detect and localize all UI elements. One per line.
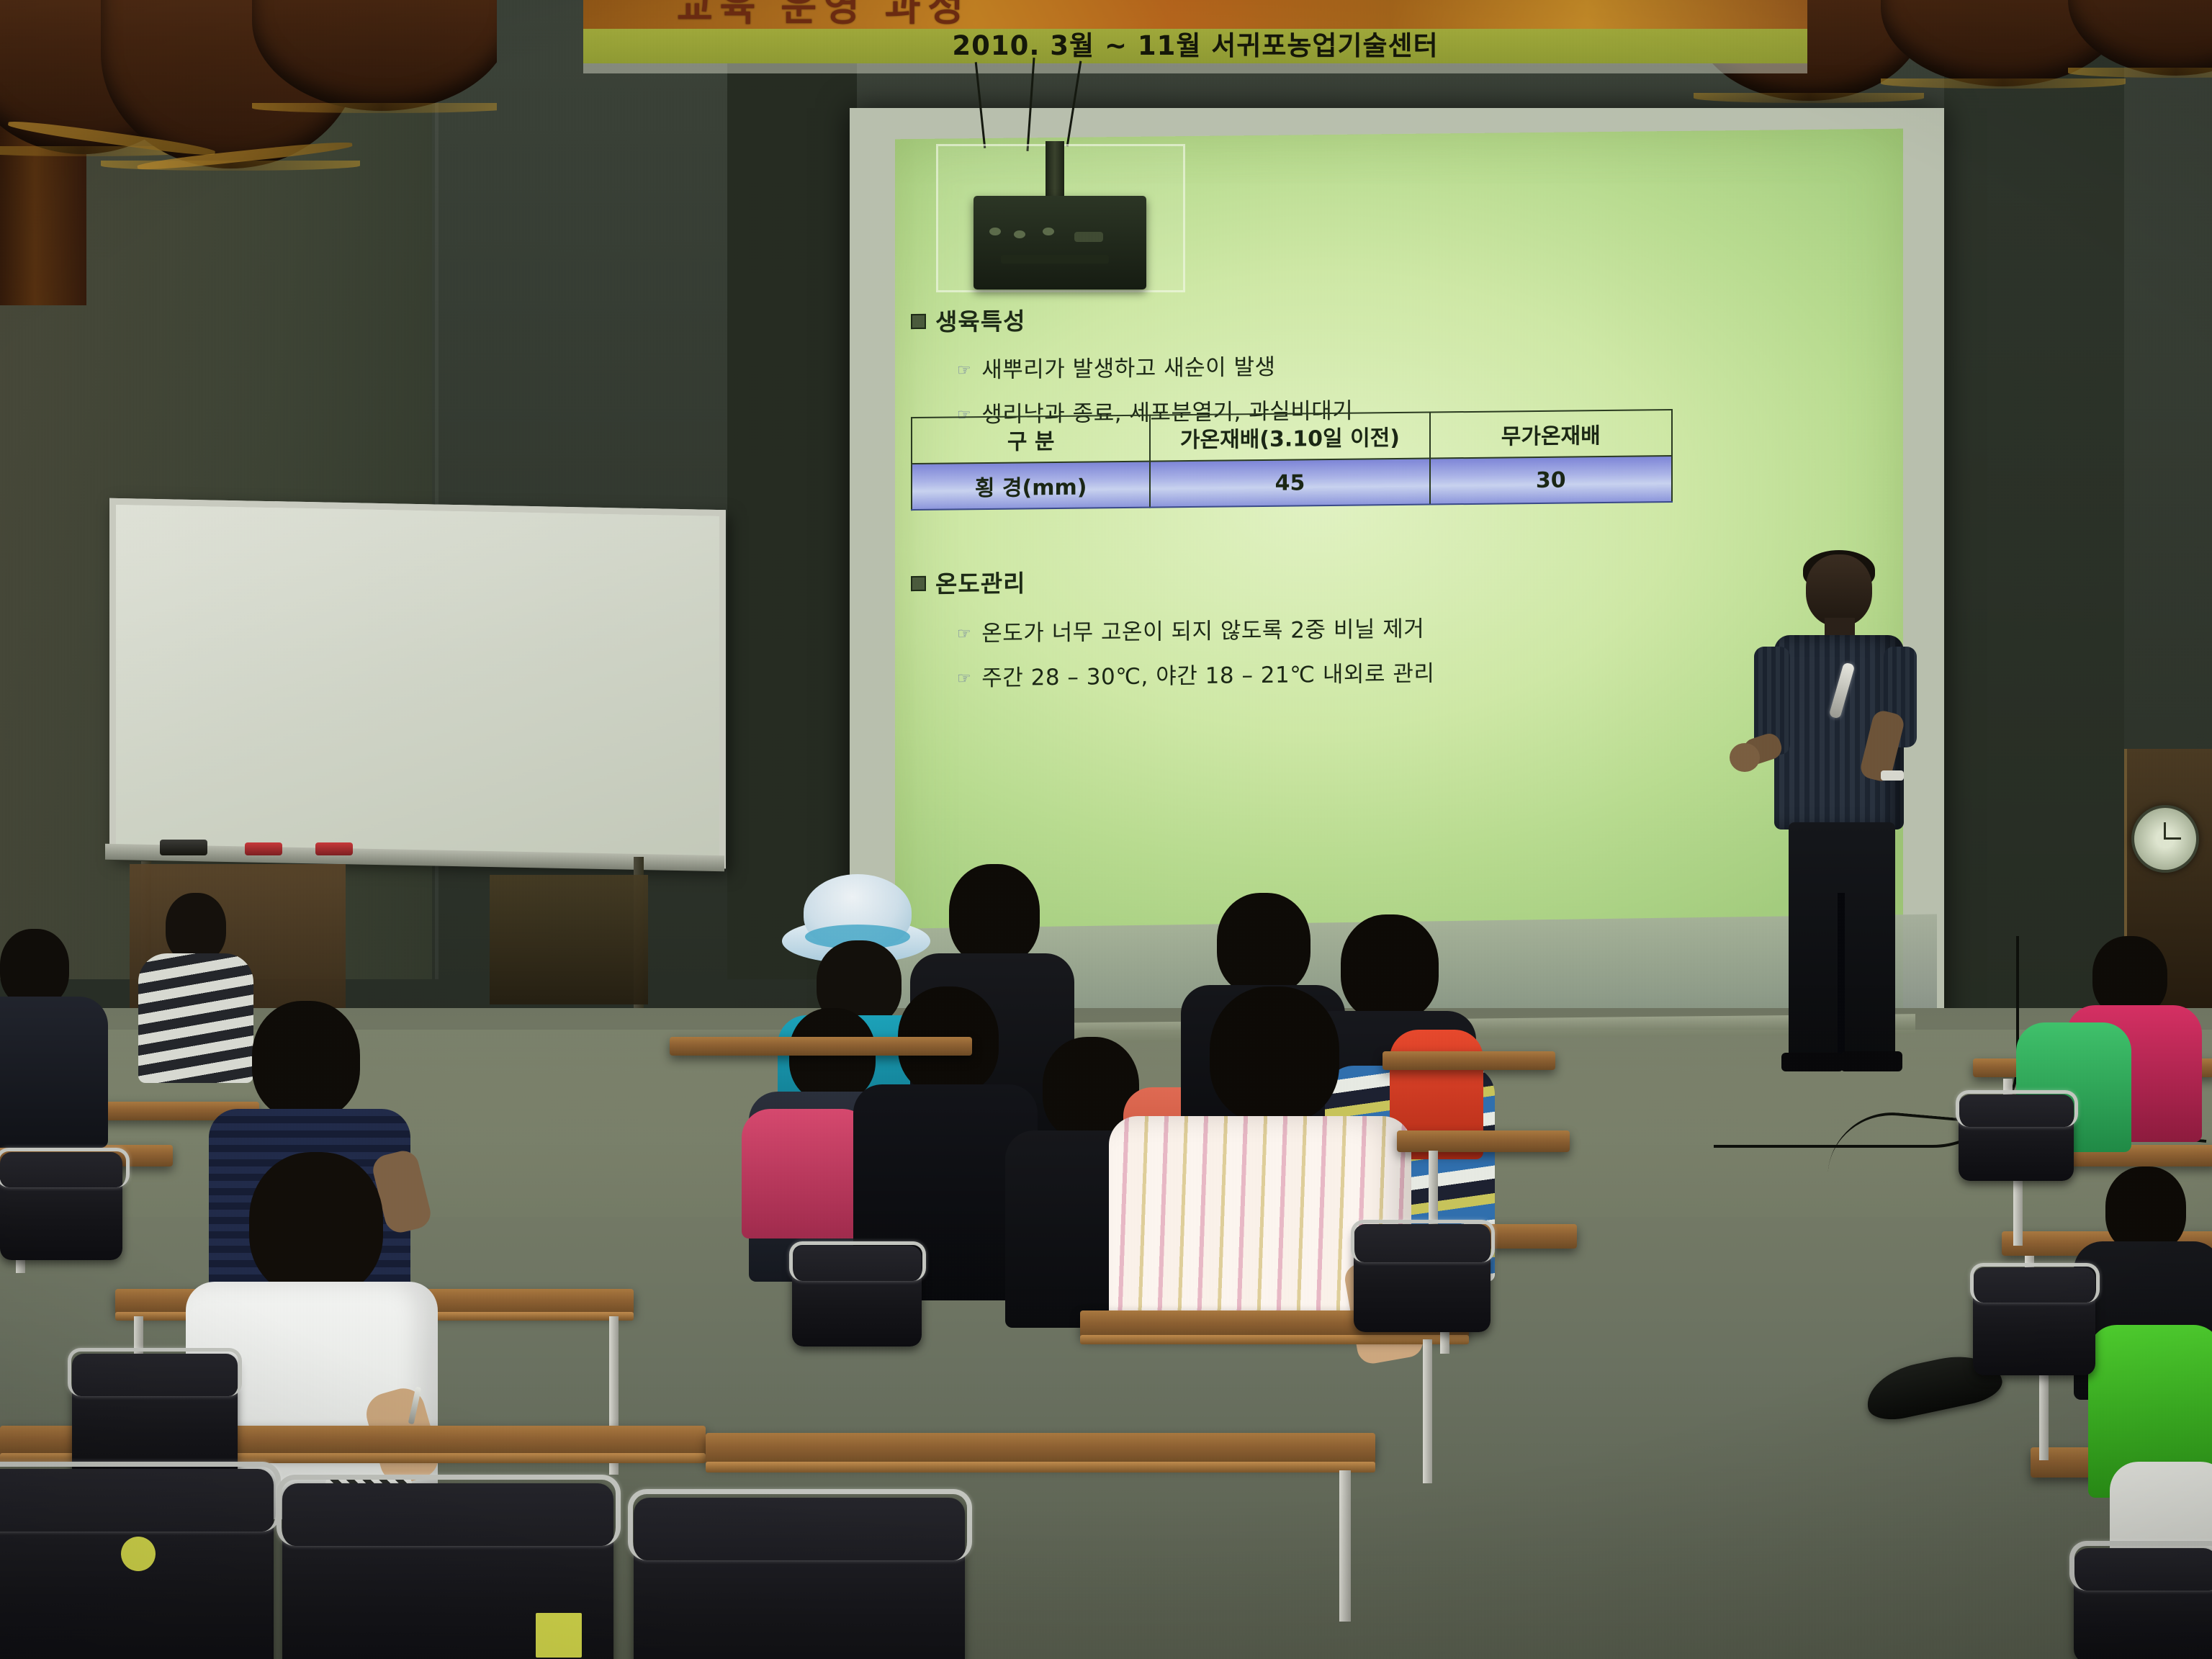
chair-frame bbox=[789, 1241, 926, 1281]
table-cell: 횡 경(mm) bbox=[912, 462, 1150, 510]
chair-frame bbox=[628, 1489, 972, 1560]
desk-edge bbox=[1080, 1335, 1469, 1344]
slide-bullet: ☞새뿌리가 발생하고 새순이 발생 bbox=[957, 349, 1276, 385]
projector-lens-icon bbox=[989, 228, 1001, 235]
red-marker bbox=[315, 842, 353, 855]
red-marker bbox=[245, 842, 282, 855]
attendee-body bbox=[742, 1109, 871, 1238]
banner-subtitle-strip: 2010. 3월 ~ 11월 서귀포농업기술센터 bbox=[583, 29, 1807, 63]
slide-bullet: ☞주간 28 – 30℃, 야간 18 – 21℃ 내외로 관리 bbox=[957, 655, 1434, 692]
wall-column bbox=[727, 43, 857, 979]
storage-cabinet bbox=[490, 875, 648, 1004]
square-bullet-icon bbox=[911, 314, 926, 329]
projector-pole bbox=[1046, 141, 1064, 203]
attendee-head bbox=[249, 1152, 383, 1296]
chair-frame bbox=[276, 1475, 621, 1546]
asset-sticker bbox=[121, 1537, 156, 1571]
chair-frame bbox=[0, 1462, 281, 1532]
slide-heading-growth: 생육특성 bbox=[911, 302, 1025, 338]
chair-frame bbox=[1970, 1263, 2100, 1303]
list-item bbox=[0, 929, 101, 1166]
attendee-head bbox=[0, 929, 69, 1007]
projector-panel-icon bbox=[1074, 232, 1103, 242]
desk-leg bbox=[1423, 1339, 1432, 1483]
banner-lower-edge bbox=[583, 63, 1807, 73]
chair-frame bbox=[68, 1348, 242, 1396]
slide-data-table: 구 분 가온재배(3.10일 이전) 무가온재배 횡 경(mm) 45 30 bbox=[911, 409, 1673, 511]
attendee-head bbox=[166, 893, 226, 962]
banner-subtitle: 2010. 3월 ~ 11월 서귀포농업기술센터 bbox=[583, 29, 1807, 63]
table-cell: 30 bbox=[1430, 456, 1672, 505]
table-row: 횡 경(mm) 45 30 bbox=[912, 456, 1672, 510]
chair-frame bbox=[1956, 1090, 2078, 1127]
attendee-head bbox=[1210, 986, 1339, 1123]
slide-bullet: ☞온도가 너무 고온이 되지 않도록 2중 비닐 제거 bbox=[957, 611, 1424, 648]
wall-right-dark bbox=[1944, 43, 2124, 1008]
table-header-cell: 구 분 bbox=[912, 415, 1150, 464]
square-bullet-icon bbox=[911, 576, 926, 591]
desk bbox=[1382, 1051, 1555, 1070]
desk-leg bbox=[1339, 1470, 1351, 1622]
table-header-cell: 가온재배(3.10일 이전) bbox=[1150, 413, 1429, 462]
stage-curtain-left bbox=[0, 0, 497, 305]
table-header-cell: 무가온재배 bbox=[1430, 410, 1672, 459]
arrow-bullet-icon: ☞ bbox=[957, 361, 971, 379]
whiteboard bbox=[109, 498, 726, 868]
projector-vent-icon bbox=[1014, 230, 1025, 238]
event-banner: 교육 운영 과정 2010. 3월 ~ 11월 서귀포농업기술센터 bbox=[583, 0, 1807, 63]
wall-clock bbox=[2131, 805, 2199, 873]
desk bbox=[1397, 1130, 1570, 1152]
table-cell: 45 bbox=[1150, 459, 1429, 508]
asset-sticker bbox=[536, 1613, 582, 1658]
curtain-swag bbox=[2068, 0, 2212, 76]
arrow-bullet-icon: ☞ bbox=[957, 625, 971, 643]
presenter-hand-left bbox=[1730, 743, 1760, 772]
whiteboard-eraser bbox=[160, 840, 207, 855]
presenter-wristwatch bbox=[1881, 770, 1904, 781]
list-item bbox=[742, 1066, 864, 1238]
desk bbox=[670, 1037, 972, 1056]
projector-grill-icon bbox=[1001, 255, 1109, 264]
ceiling-projector bbox=[974, 196, 1146, 289]
desk bbox=[706, 1433, 1375, 1465]
projector-vent-icon bbox=[1043, 228, 1054, 235]
lecture-hall-photo: 교육 운영 과정 2010. 3월 ~ 11월 서귀포농업기술센터 는 ? 생육… bbox=[0, 0, 2212, 1659]
attendee-body bbox=[0, 997, 108, 1148]
table-header-row: 구 분 가온재배(3.10일 이전) 무가온재배 bbox=[912, 410, 1672, 464]
attendee-head bbox=[1341, 914, 1439, 1021]
chair-frame bbox=[0, 1148, 130, 1187]
attendee-head bbox=[2105, 1166, 2186, 1253]
whiteboard-surface bbox=[116, 505, 719, 862]
slide-heading-temperature: 온도관리 bbox=[911, 564, 1025, 600]
chair-frame bbox=[2069, 1541, 2212, 1591]
desk-edge bbox=[706, 1462, 1375, 1473]
attendee-head bbox=[949, 864, 1040, 965]
chair-frame bbox=[1351, 1220, 1495, 1262]
banner-title: 교육 운영 과정 bbox=[677, 0, 1635, 26]
arrow-bullet-icon: ☞ bbox=[957, 670, 971, 688]
attendee-head bbox=[252, 1001, 360, 1119]
attendee-head bbox=[1217, 893, 1310, 995]
presenter-head bbox=[1806, 554, 1872, 626]
